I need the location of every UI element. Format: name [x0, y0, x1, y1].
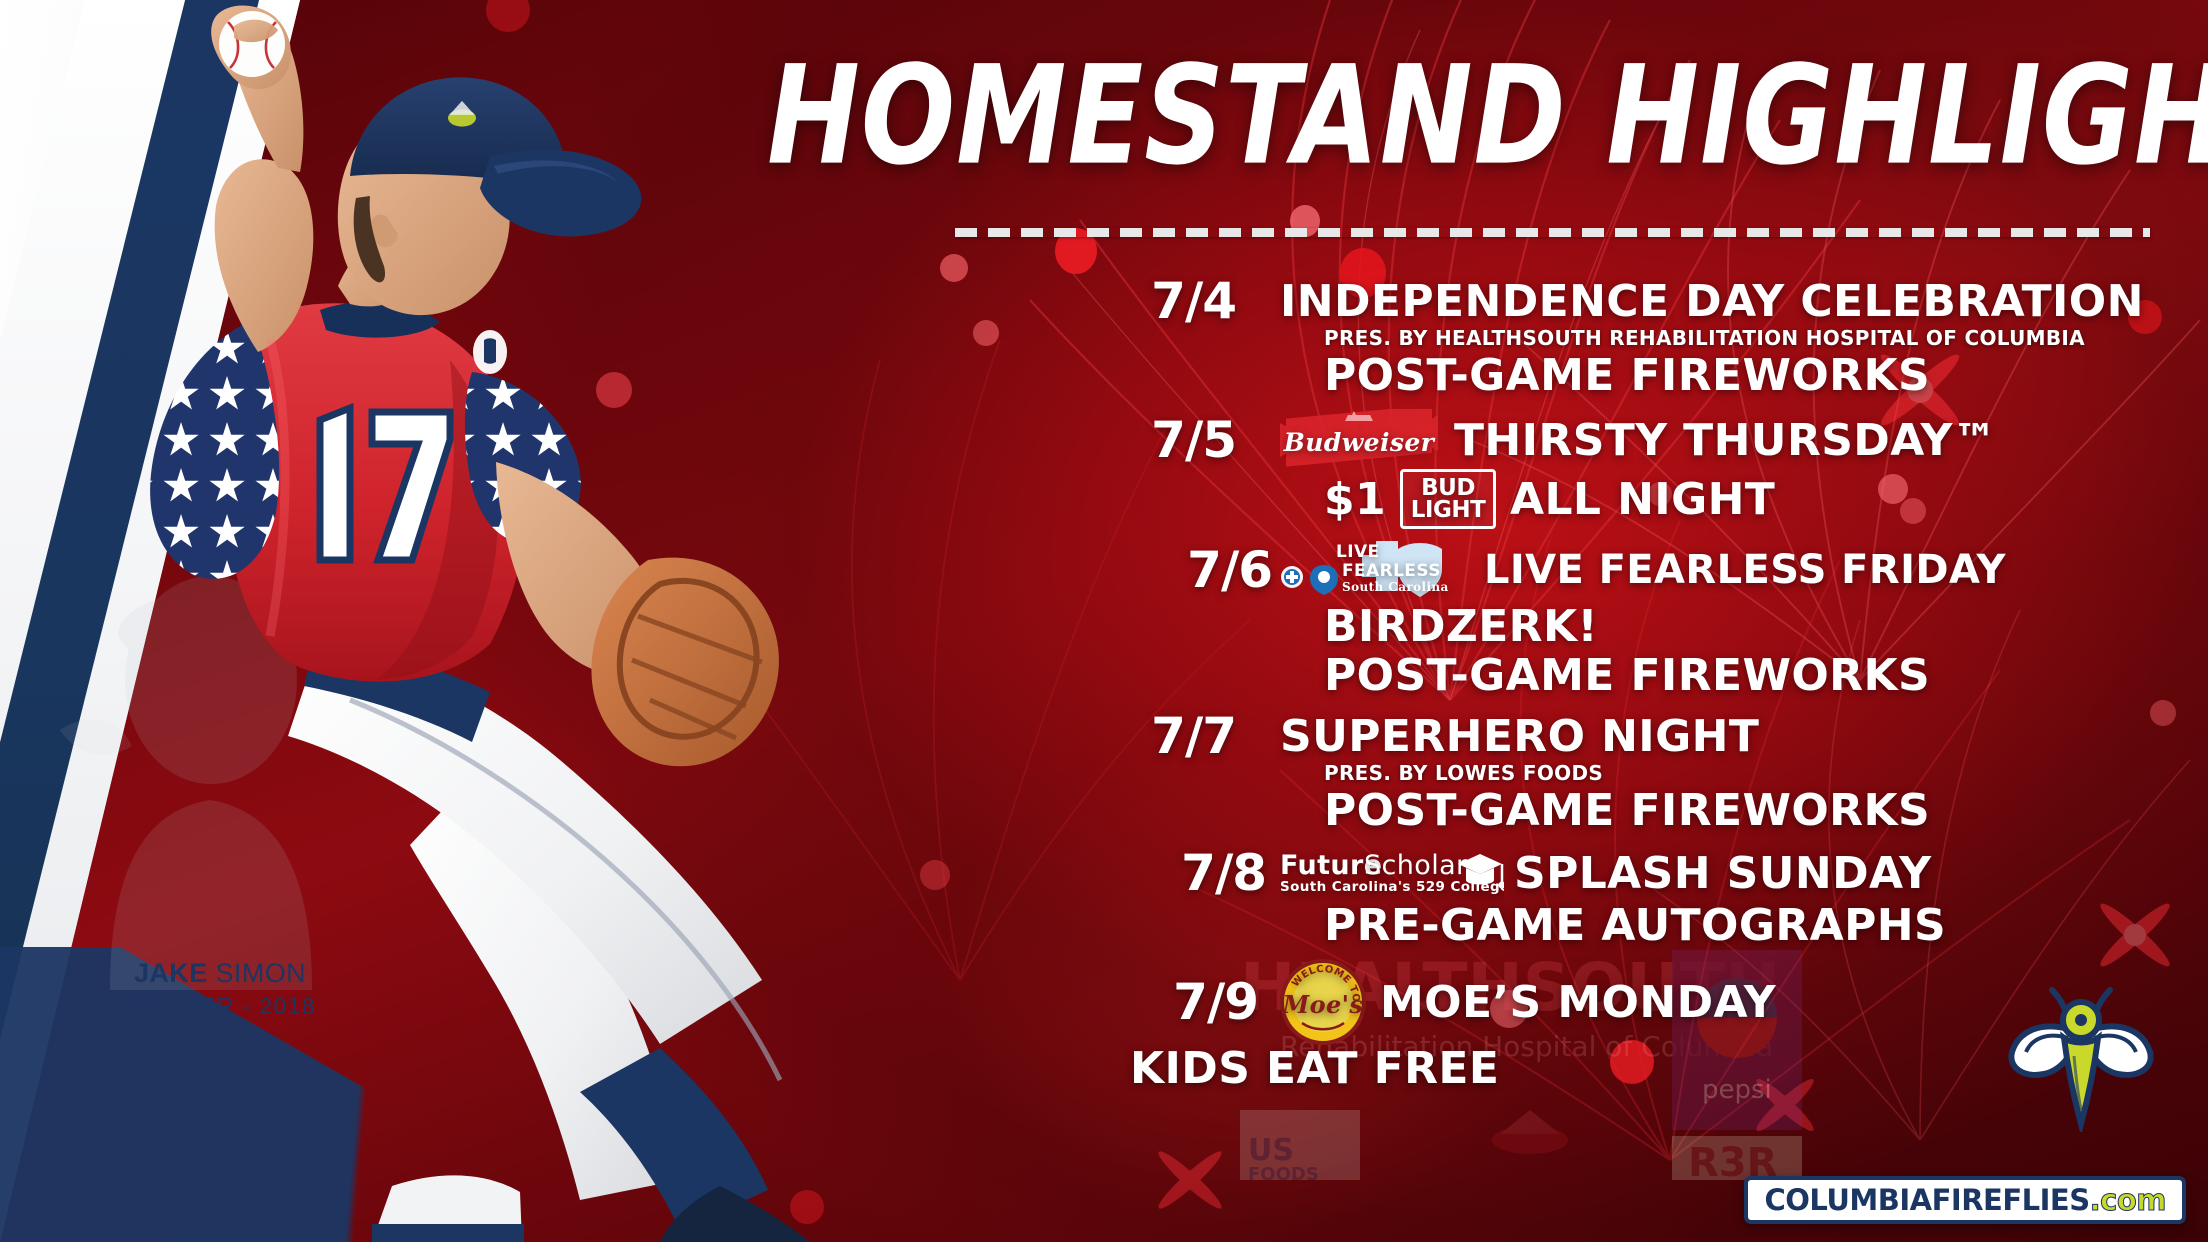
event-title-with-logo: LIVE FEARLESS South Carolina LIVE FEARLE… [1280, 537, 2006, 603]
event-date: 7/4 [1130, 272, 1280, 330]
player-nameplate: JAKE SIMON PITCHER - 2018 [60, 958, 380, 1020]
title-divider [955, 228, 2150, 237]
event-title: SUPERHERO NIGHT [1280, 711, 1759, 762]
event-title-with-logo: WELCOME TO Moe's MOE’S MONDAY [1280, 959, 1776, 1045]
event-presented-by: PRES. BY HEALTHSOUTH REHABILITATION HOSP… [1324, 326, 2150, 350]
price-label: $1 [1324, 474, 1386, 525]
event-row: 7/4 INDEPENDENCE DAY CELEBRATION PRES. B… [1130, 272, 2150, 401]
event-extra: BIRDZERK! [1324, 601, 2150, 652]
live-fearless-bcbs-logo: LIVE FEARLESS South Carolina [1280, 537, 1470, 603]
event-extra: KIDS EAT FREE [1130, 1043, 2150, 1094]
event-row: 7/5 Budweiser [1130, 409, 2150, 529]
event-row: 7/6 [1130, 537, 2150, 701]
live-fearless-line2: FEARLESS [1342, 561, 1441, 581]
event-extra-row: $1 BUD LIGHT ALL NIGHT [1324, 469, 2150, 529]
event-title-with-logo: Future Scholar South Carolina's 529 Coll… [1280, 844, 1932, 902]
moes-line2: Moe's [1282, 990, 1364, 1019]
homestand-highlights-poster: JAKE SIMON PITCHER - 2018 HOMESTAND HIGH… [0, 0, 2208, 1242]
bokeh-dot [973, 320, 999, 346]
event-extra: POST-GAME FIREWORKS [1324, 650, 2150, 701]
future-scholar-line1b: Scholar [1364, 850, 1468, 881]
event-date: 7/9 [1130, 973, 1280, 1031]
event-date: 7/8 [1130, 844, 1280, 902]
event-row: 7/9 WELCOME TO Moe's [1130, 959, 2150, 1094]
page-title: HOMESTAND HIGHLIGHTS [767, 48, 2173, 185]
live-fearless-line1: LIVE [1336, 542, 1380, 562]
event-extra: PRE-GAME AUTOGRAPHS [1324, 900, 2150, 951]
live-fearless-line3: South Carolina [1342, 580, 1449, 594]
sparkle-3 [1140, 1130, 1240, 1230]
svg-text:R3R: R3R [1688, 1140, 1777, 1180]
event-title: MOE’S MONDAY [1380, 977, 1776, 1028]
bud-light-line2: LIGHT [1411, 499, 1486, 521]
svg-text:FOODS: FOODS [1248, 1164, 1319, 1180]
event-extra: POST-GAME FIREWORKS [1324, 785, 2150, 836]
bokeh-dot [2150, 700, 2176, 726]
url-domain: COLUMBIAFIREFLIES [1764, 1183, 2089, 1217]
event-presented-by: PRES. BY LOWES FOODS [1324, 761, 2150, 785]
player-role: PITCHER - 2018 [60, 993, 380, 1020]
event-extra: ALL NIGHT [1510, 474, 1775, 525]
budweiser-logo: Budweiser [1280, 409, 1438, 471]
url-tld: .com [2090, 1183, 2166, 1217]
moes-logo: WELCOME TO Moe's [1280, 959, 1366, 1045]
event-title: LIVE FEARLESS FRIDAY [1484, 547, 2006, 593]
player-last-name: SIMON [208, 958, 306, 988]
bokeh-dot [940, 254, 968, 282]
event-row: 7/8 Future Scholar South Carolina's 529 … [1130, 844, 2150, 951]
future-scholar-logo: Future Scholar South Carolina's 529 Coll… [1280, 844, 1504, 902]
event-title: INDEPENDENCE DAY CELEBRATION [1280, 276, 2144, 327]
bokeh-dot [920, 860, 950, 890]
svg-text:Budweiser: Budweiser [1283, 428, 1436, 457]
fireflies-logo [2006, 982, 2156, 1132]
event-title-with-logo: Budweiser THIRSTY THURSDAY™ [1280, 409, 1997, 471]
event-extra: POST-GAME FIREWORKS [1324, 350, 2150, 401]
event-date: 7/6 [1130, 541, 1280, 599]
event-date: 7/5 [1130, 411, 1280, 469]
event-title: SPLASH SUNDAY [1514, 848, 1932, 899]
event-date: 7/7 [1130, 707, 1280, 765]
svg-text:US: US [1248, 1133, 1294, 1168]
player-first-name: JAKE [134, 958, 208, 988]
website-url-bar[interactable]: COLUMBIAFIREFLIES .com [1744, 1176, 2186, 1224]
player-name: JAKE SIMON [60, 958, 380, 990]
bud-light-line1: BUD [1421, 477, 1475, 499]
event-row: 7/7 SUPERHERO NIGHT PRES. BY LOWES FOODS… [1130, 707, 2150, 836]
event-title: THIRSTY THURSDAY™ [1454, 415, 1997, 466]
events-list: 7/4 INDEPENDENCE DAY CELEBRATION PRES. B… [1130, 272, 2150, 1098]
bud-light-logo: BUD LIGHT [1400, 469, 1496, 529]
